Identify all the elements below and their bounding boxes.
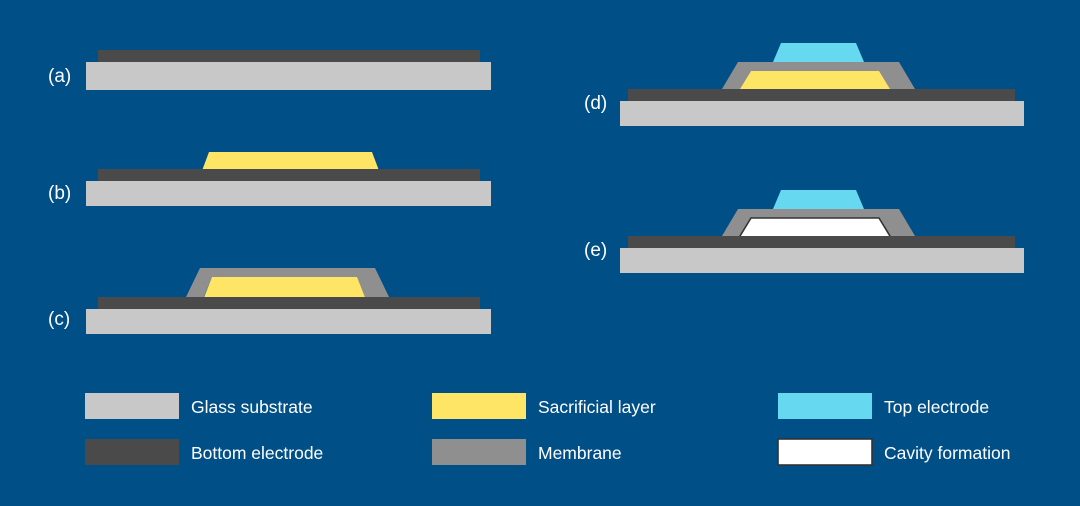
legend-swatch-sacrificial-layer [432, 393, 526, 419]
legend-swatch-top-electrode [778, 393, 872, 419]
legend-item-sacrificial-layer[interactable]: Sacrificial layer [432, 393, 656, 419]
panel-a: (a) [48, 50, 491, 90]
legend-label-membrane: Membrane [538, 443, 622, 463]
legend-item-cavity-formation[interactable]: Cavity formation [778, 439, 1010, 465]
process-flow-diagram: (a) (b) (c) (d) (e) [0, 0, 1080, 506]
legend-swatch-bottom-electrode [85, 439, 179, 465]
legend-item-glass-substrate[interactable]: Glass substrate [85, 393, 313, 419]
legend-label-cavity-formation: Cavity formation [884, 443, 1010, 463]
panel-c-bottom-electrode [98, 297, 480, 309]
panel-a-bottom-electrode [98, 50, 480, 62]
panel-e-label: (e) [584, 240, 607, 261]
legend-label-glass-substrate: Glass substrate [191, 397, 313, 417]
legend-item-bottom-electrode[interactable]: Bottom electrode [85, 439, 323, 465]
panel-a-glass-substrate [86, 62, 491, 90]
panel-c-label: (c) [48, 309, 70, 330]
legend-item-top-electrode[interactable]: Top electrode [778, 393, 989, 419]
panel-b-glass-substrate [86, 181, 491, 206]
panel-d-bottom-electrode [628, 89, 1015, 101]
legend-swatch-cavity-formation [778, 439, 872, 465]
panel-b-label: (b) [48, 183, 71, 204]
panel-b-bottom-electrode [98, 169, 480, 181]
panel-e-glass-substrate [620, 248, 1024, 273]
legend-label-top-electrode: Top electrode [884, 397, 989, 417]
panel-e-bottom-electrode [628, 236, 1015, 248]
panel-a-label: (a) [48, 66, 71, 87]
legend-swatch-glass-substrate [85, 393, 179, 419]
legend-swatch-membrane [432, 439, 526, 465]
panel-d-label: (d) [584, 93, 607, 114]
panel-e-top-electrode [773, 190, 864, 209]
legend-label-sacrificial-layer: Sacrificial layer [538, 397, 656, 417]
legend-label-bottom-electrode: Bottom electrode [191, 443, 323, 463]
panel-d-top-electrode [773, 43, 864, 62]
panel-c-glass-substrate [86, 309, 491, 334]
panel-c-sacrificial-layer [203, 277, 366, 300]
panel-d-glass-substrate [620, 101, 1024, 126]
